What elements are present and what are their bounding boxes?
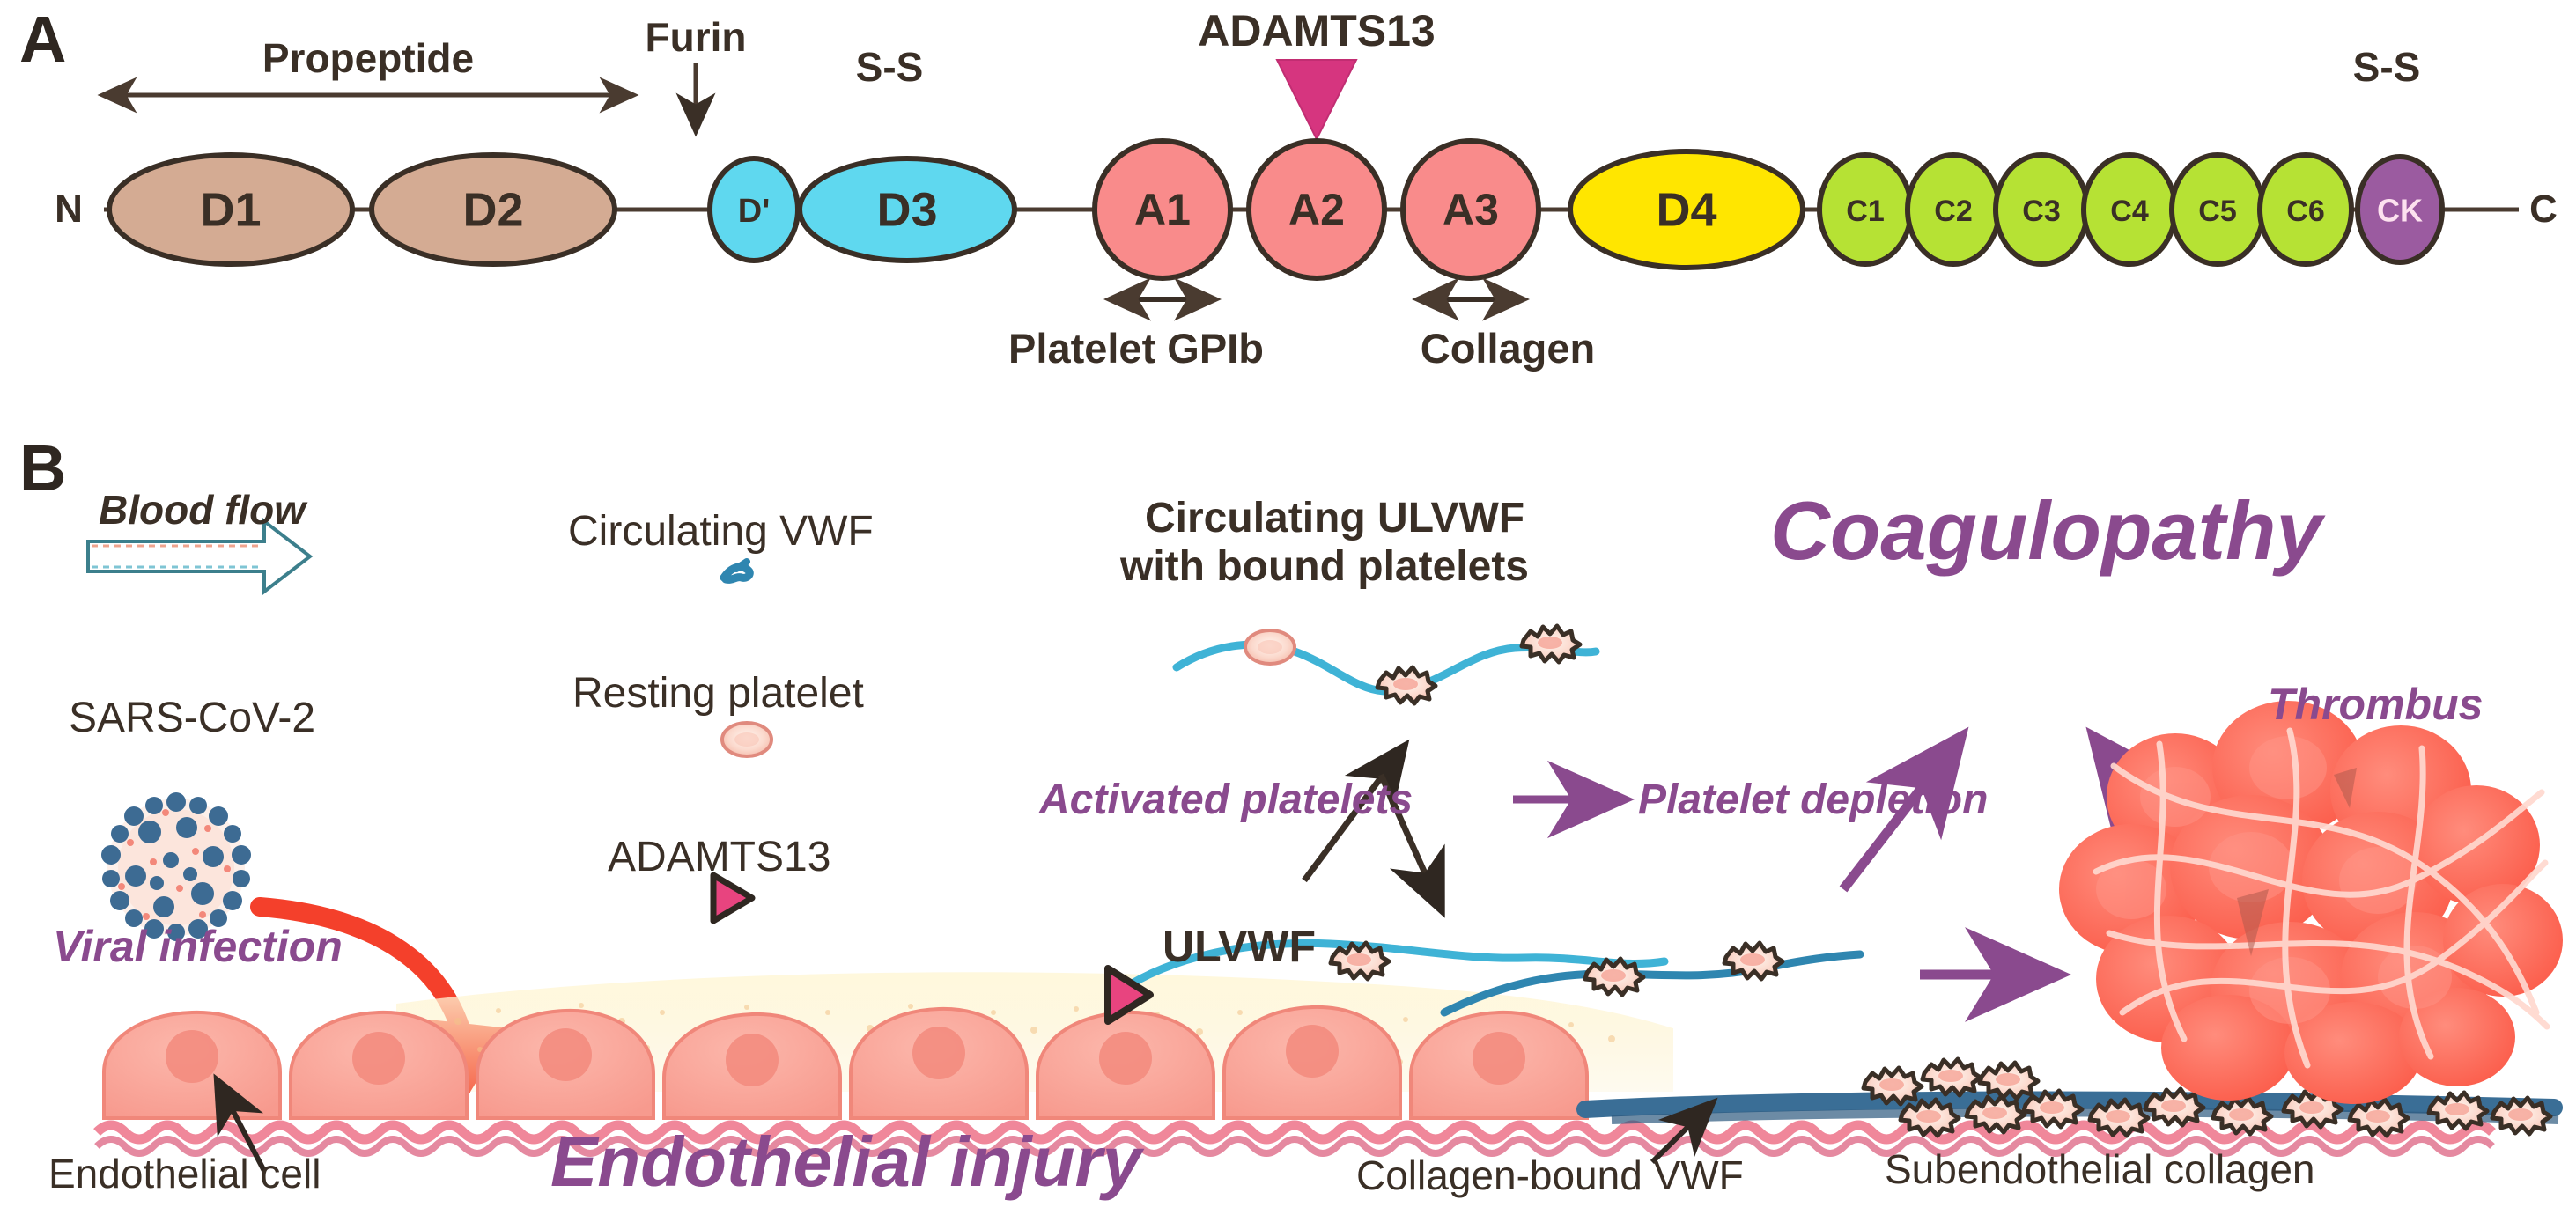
sars-cov-2-label: SARS-CoV-2 — [69, 697, 315, 740]
circulating-ulvwf-line2: with bound platelets — [1120, 546, 1529, 588]
circulating-vwf-glyph — [724, 562, 749, 579]
resting-platelet-glyph — [722, 723, 771, 756]
thrombus-label: Thrombus — [2268, 682, 2483, 726]
panel-b-graphics — [0, 0, 2576, 1222]
subendothelial-collagen-label: Subendothelial collagen — [1885, 1149, 2315, 1189]
adamts13-legend-triangle — [713, 875, 752, 921]
endothelial-cell-label: Endothelial cell — [48, 1153, 321, 1194]
adamts13-legend-label: ADAMTS13 — [608, 836, 830, 879]
resting-platelet-label: Resting platelet — [572, 673, 864, 715]
figure-root: A N C Propeptide Furin S-S — [0, 0, 2576, 1222]
ulvwf-label: ULVWF — [1163, 924, 1316, 968]
platelet-depletion-label: Platelet depletion — [1638, 779, 1988, 821]
activated-platelets-label: Activated platelets — [1039, 779, 1413, 821]
circulating-ulvwf-line1: Circulating ULVWF — [1145, 497, 1524, 540]
thrombus-cluster — [2059, 701, 2563, 1104]
viral-infection-label: Viral infection — [53, 924, 343, 968]
collagen-bound-vwf-label: Collagen-bound VWF — [1356, 1155, 1744, 1196]
circulating-ulvwf-complex — [1177, 626, 1596, 703]
sars-cov-2-virion — [101, 792, 251, 941]
endothelial-injury-label: Endothelial injury — [550, 1127, 1141, 1197]
circulating-vwf-label: Circulating VWF — [568, 511, 874, 553]
coagulopathy-label: Coagulopathy — [1770, 490, 2322, 572]
blood-flow-label: Blood flow — [99, 490, 306, 530]
